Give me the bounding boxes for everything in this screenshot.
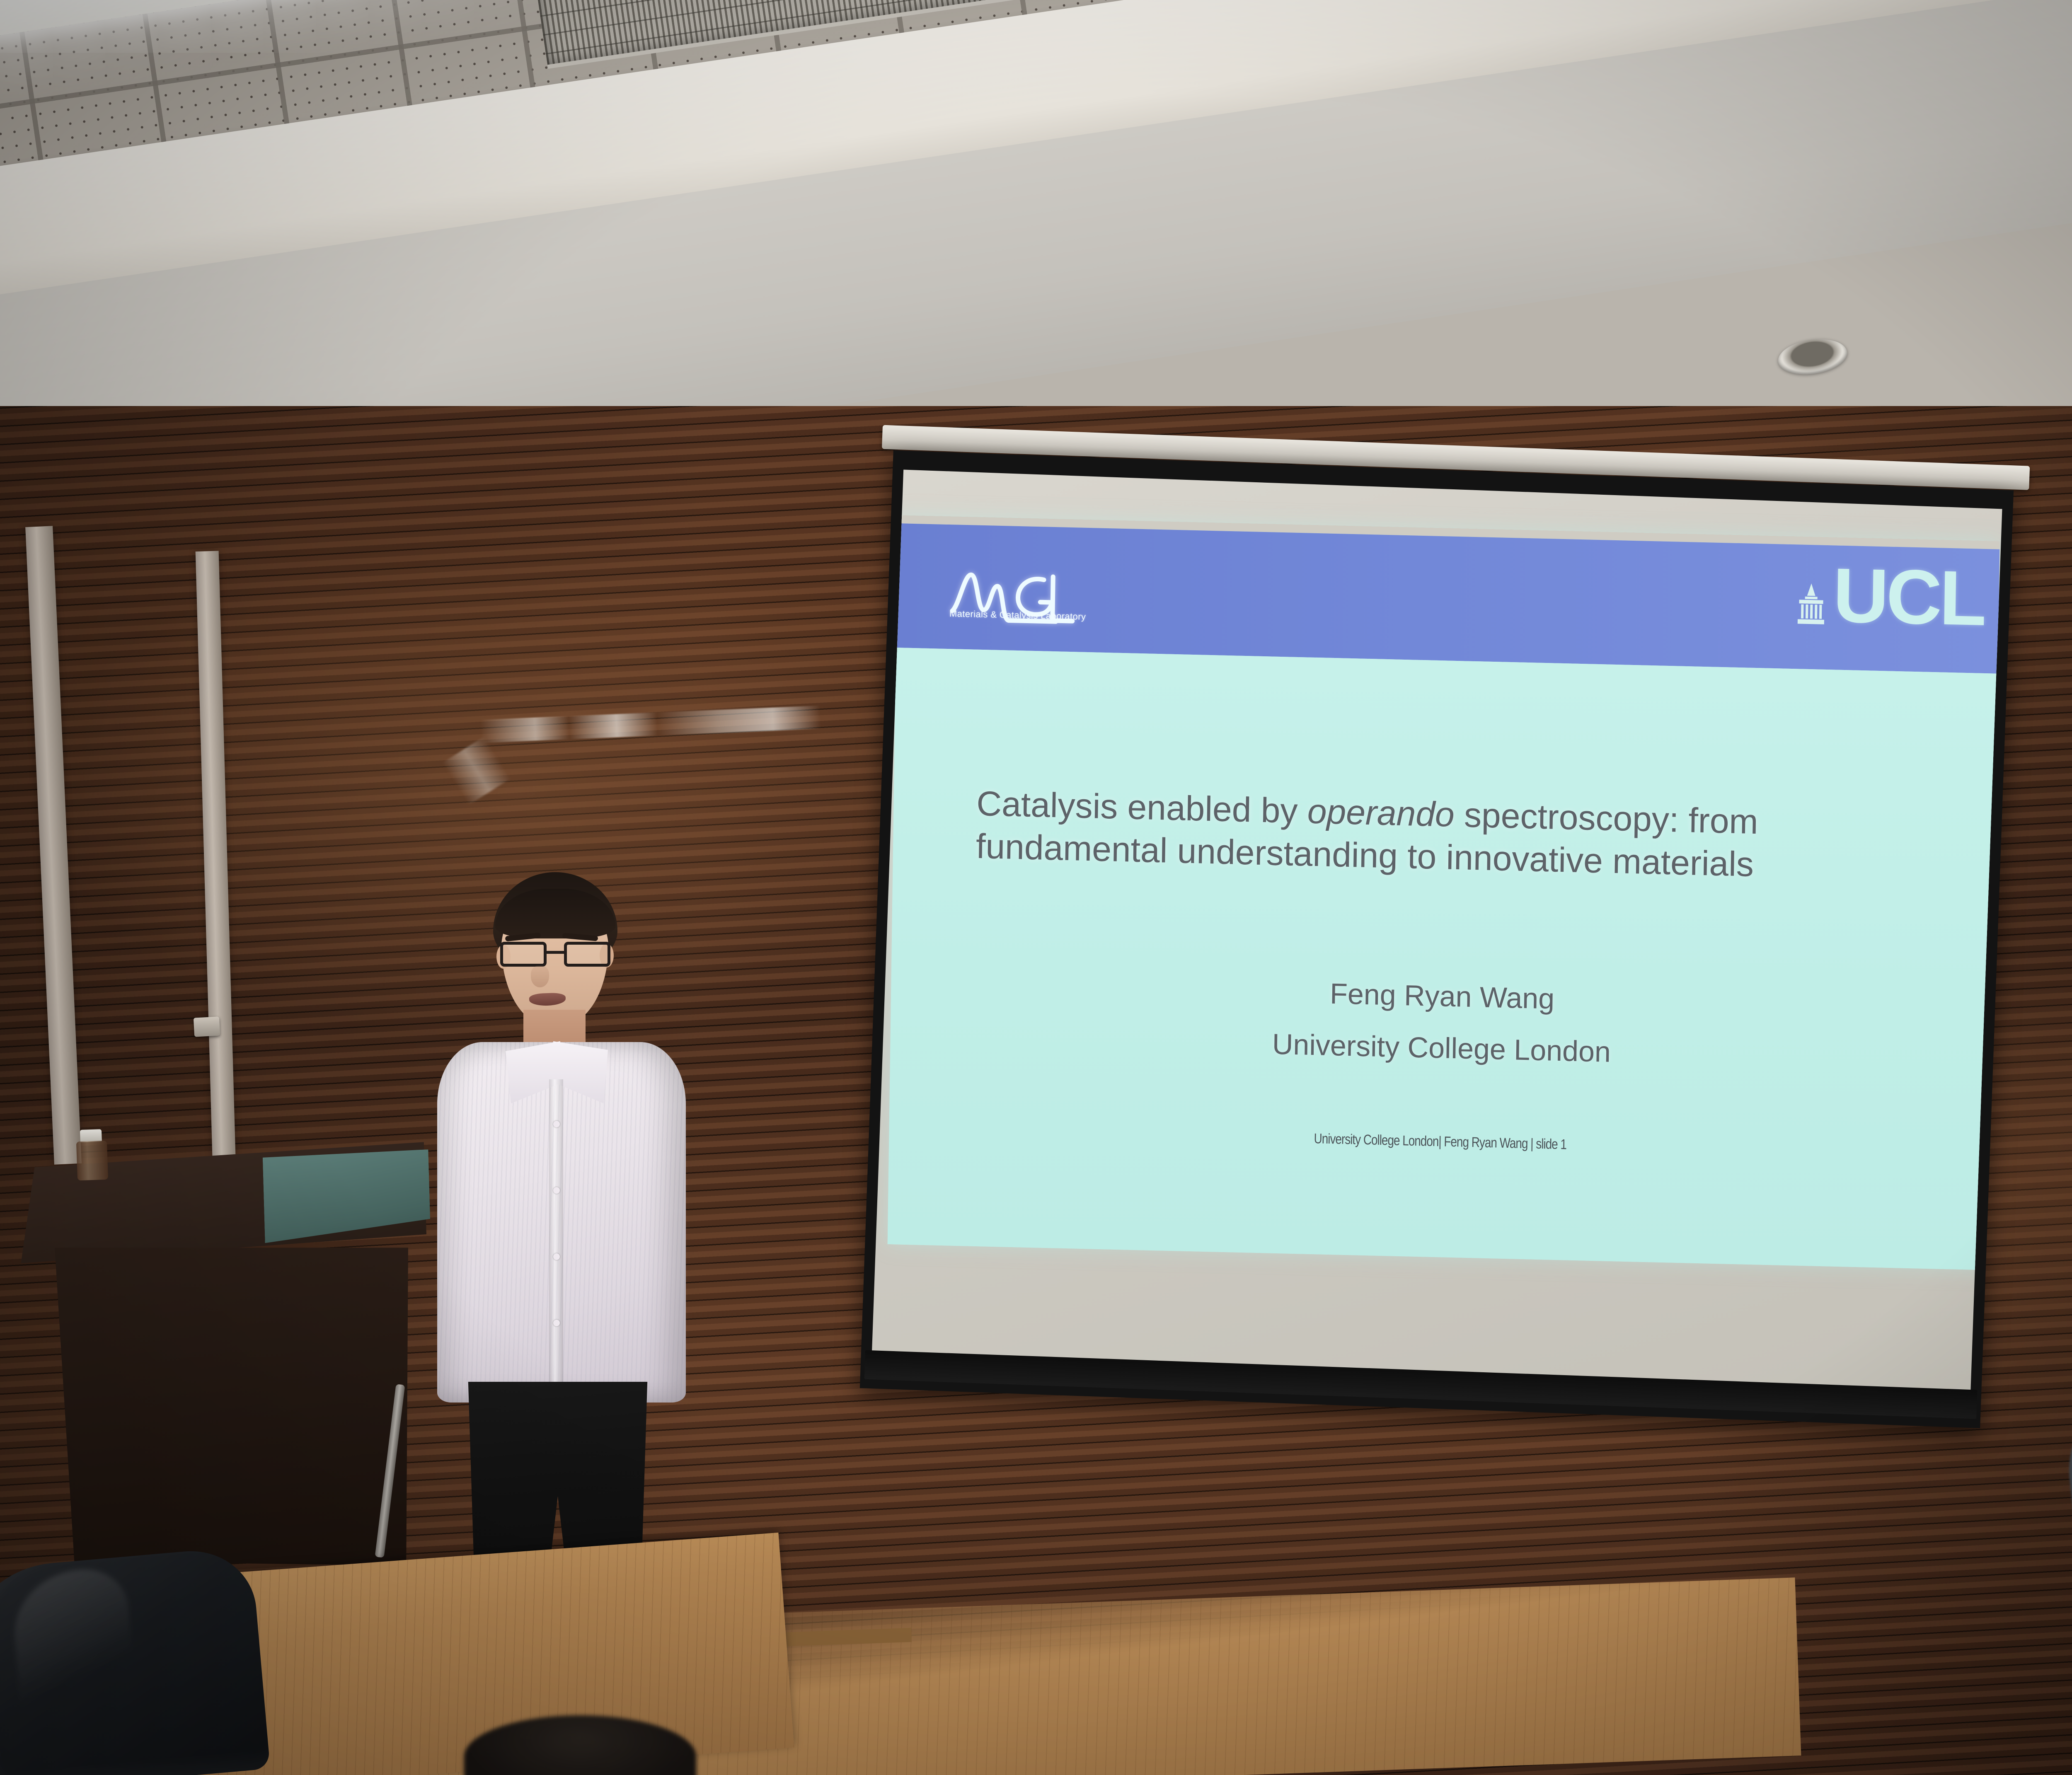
recessed-downlight: [1776, 335, 1849, 379]
screen-surface: Materials & Catalysis Laboratory: [872, 470, 2002, 1395]
ucl-wordmark: UCL: [1833, 565, 1985, 629]
presenter: [416, 872, 698, 1577]
glasses-bridge: [547, 951, 565, 954]
projection-screen: Materials & Catalysis Laboratory: [860, 450, 2014, 1428]
ucl-logo: UCL: [1796, 564, 1985, 629]
slide-body: [888, 648, 1998, 1270]
mcl-logo: [948, 556, 1098, 642]
wall-hook: [194, 1016, 220, 1037]
presenter-nose: [531, 966, 549, 987]
lecture-hall-photo: Materials & Catalysis Laboratory: [0, 0, 2072, 1775]
water-bottle: [75, 1129, 109, 1181]
projected-slide: Materials & Catalysis Laboratory: [888, 515, 2000, 1270]
presenter-shirt-placket: [549, 1079, 563, 1407]
glasses-lens-left: [500, 942, 547, 967]
ucl-portico-icon: [1796, 583, 1827, 625]
lectern-body: [48, 1238, 417, 1575]
glasses-icon: [498, 942, 614, 968]
slide-title-part-a: Catalysis enabled by: [976, 784, 1308, 831]
shirt-button: [553, 1121, 560, 1127]
shirt-button: [553, 1320, 560, 1326]
shirt-button: [553, 1253, 560, 1260]
shirt-button: [553, 1187, 560, 1194]
slide-title-part-b: spectroscopy: from: [1454, 795, 1758, 841]
slide-title-operando: operando: [1307, 792, 1455, 834]
bottle-cap: [80, 1129, 102, 1142]
bottle-body: [76, 1141, 108, 1181]
glasses-lens-right: [564, 942, 610, 967]
